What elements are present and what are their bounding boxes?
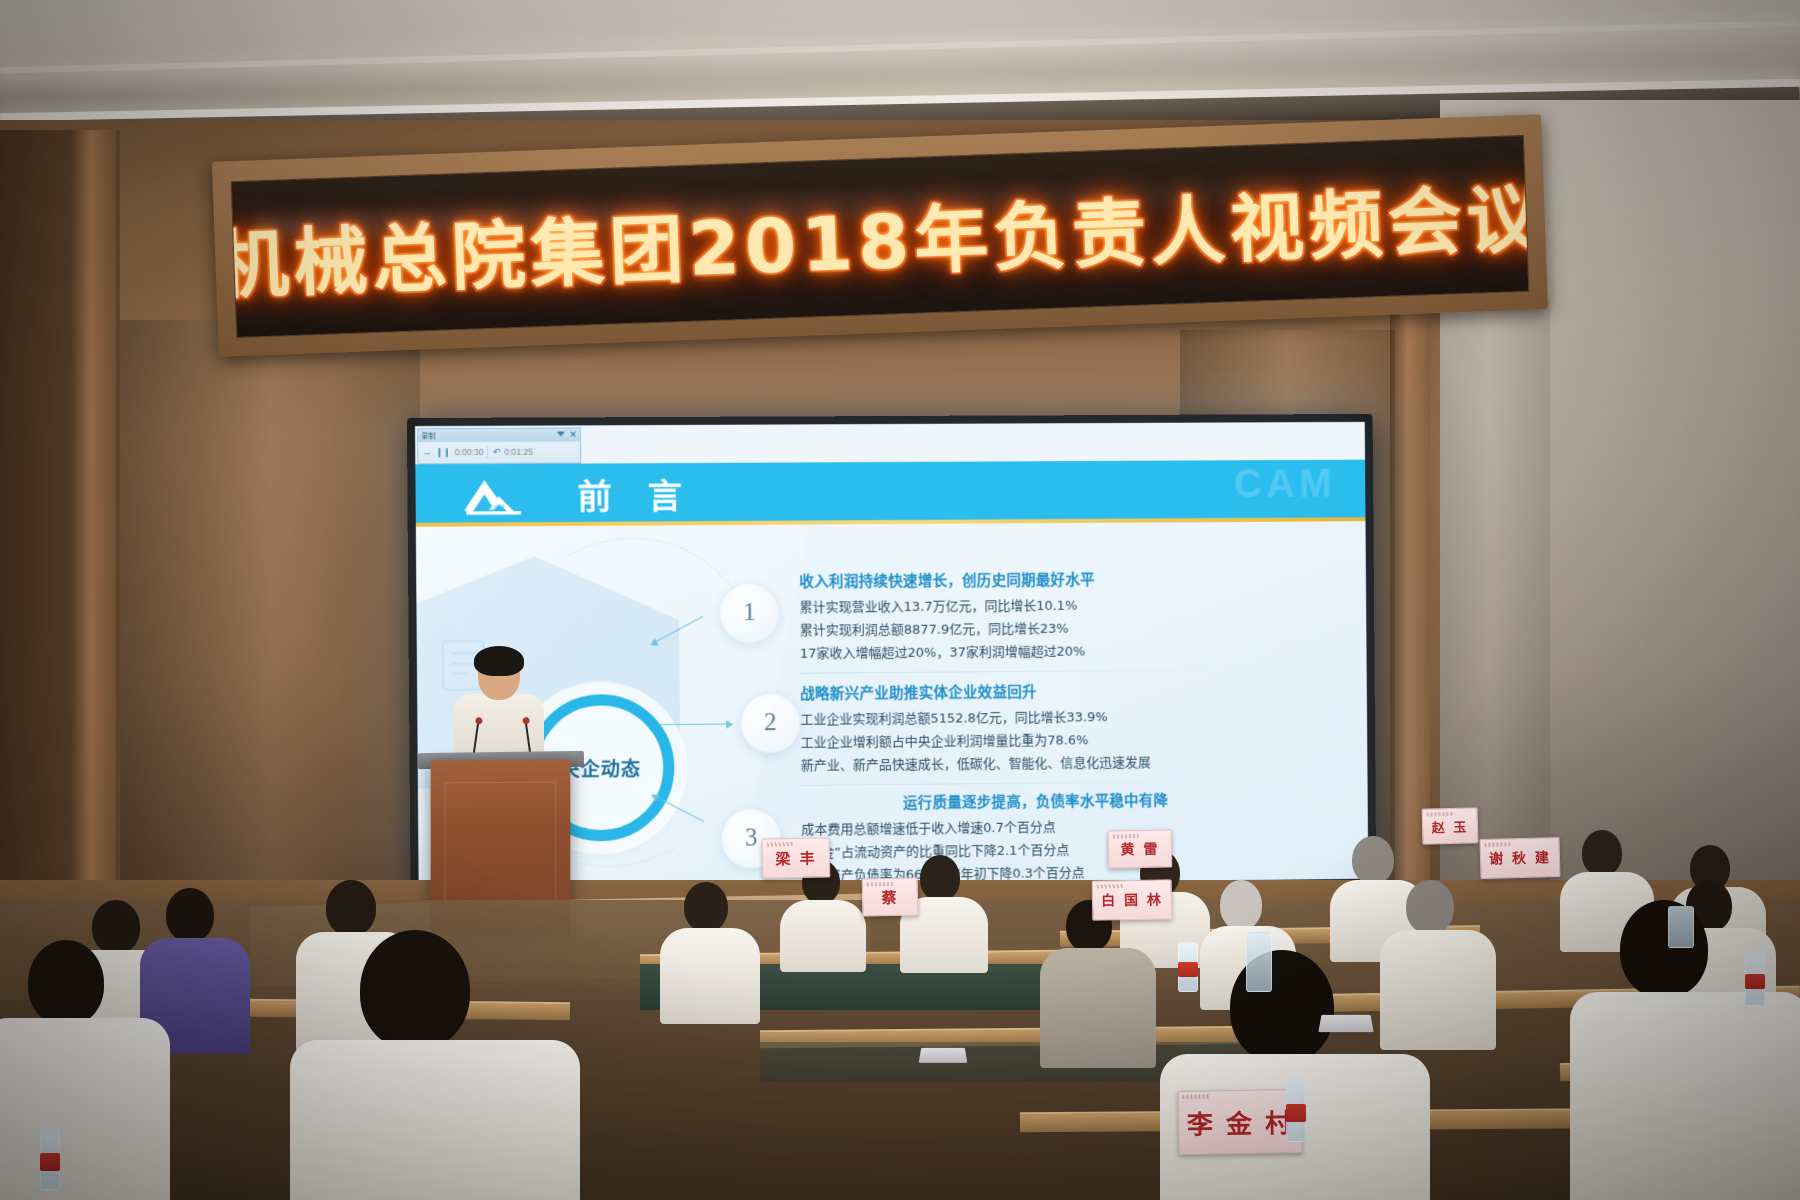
cam-logo-icon: CAM [458,474,533,517]
placard-name: 李 金 村 [1187,1103,1294,1142]
placard-name: 谢 秋 建 [1489,847,1551,869]
chevron-down-icon[interactable] [557,432,565,437]
name-placard: 梁 丰 [762,837,831,878]
placard-name: 梁 丰 [775,847,817,869]
block-1-line-3: 17家收入增幅超过20%，37家利润增幅超过20% [800,639,1268,666]
pause-icon[interactable]: ❙❙ [435,447,450,458]
recording-toolbar-titlebar: 录制 ✕ [418,428,580,442]
toolbar-divider [488,446,489,458]
ceiling-light-strip-upper [0,20,1800,73]
placard-name: 黄 雷 [1120,839,1159,860]
bullet-3-label: 3 [745,824,758,852]
total-time: 0:01:25 [504,447,533,457]
block-1-heading: 收入利润持续快速增长，创历史同期最好水平 [799,568,1267,592]
elapsed-time: 0:00:30 [455,447,484,457]
laptop [919,1048,968,1063]
ppt-recording-toolbar[interactable]: 录制 ✕ → ❙❙ 0:00:30 ↶ 0:01:25 [417,427,581,464]
water-bottle [40,1128,60,1190]
water-bottle [1286,1078,1306,1142]
wall-column-left [70,130,116,930]
placard-name: 蔡 [881,886,898,907]
name-placard: 谢 秋 建 [1479,837,1560,879]
block-2-heading: 战略新兴产业助推实体企业效益回升 [800,679,1268,704]
block-3-heading: 运行质量逐步提高，负债率水平稳中有降 [801,788,1269,814]
placard-name: 白 国 林 [1101,889,1163,910]
tea-cup [1668,906,1694,948]
laptop [1318,1015,1373,1032]
close-icon[interactable]: ✕ [569,429,577,439]
recording-toolbar-controls: → ❙❙ 0:00:30 ↶ 0:01:25 [418,441,580,462]
speaker-hair [474,646,524,676]
block-2-line-3: 新产业、新产品快速成长，低碳化、智能化、信息化迅速发展 [801,751,1269,779]
placard-name: 赵 玉 [1431,816,1468,836]
block-1-line-1: 累计实现营业收入13.7万亿元，同比增长10.1% [799,593,1267,619]
tea-cup [1246,932,1272,992]
text-block-2: 战略新兴产业助推实体企业效益回升 工业企业实现利润总额5152.8亿元，同比增长… [800,679,1269,786]
name-placard: 白 国 林 [1092,879,1173,920]
water-bottle [1178,942,1198,992]
slide-header: CAM CAM 前 言 [415,460,1365,523]
arrow-right-icon[interactable]: → [422,447,431,457]
name-placard: 蔡 [862,878,919,917]
recording-toolbar-title: 录制 [421,431,435,441]
bullet-number-1: 1 [719,583,780,644]
name-placard: 黄 雷 [1108,829,1173,868]
name-placard: 李 金 村 [1177,1089,1302,1155]
wall-panel-left [120,320,420,920]
conference-photo: 机械总院集团2018年负责人视频会议 录制 ✕ → ❙❙ 0:00:30 ↶ 0… [0,0,1800,1200]
undo-icon[interactable]: ↶ [493,446,501,457]
bullet-1-label: 1 [743,599,756,627]
water-bottle [1745,952,1765,1006]
header-watermark: CAM [1234,462,1336,507]
name-placard: 赵 玉 [1422,807,1479,844]
bullet-2-label: 2 [764,709,777,737]
bullet-number-2: 2 [740,693,801,754]
svg-text:CAM: CAM [489,503,505,512]
text-block-3: 运行质量逐步提高，负债率水平稳中有降 成本费用总额增速低于收入增速0.7个百分点… [801,788,1270,888]
slide-title: 前 言 [577,469,694,519]
text-block-1: 收入利润持续快速增长，创历史同期最好水平 累计实现营业收入13.7万亿元，同比增… [799,568,1268,675]
